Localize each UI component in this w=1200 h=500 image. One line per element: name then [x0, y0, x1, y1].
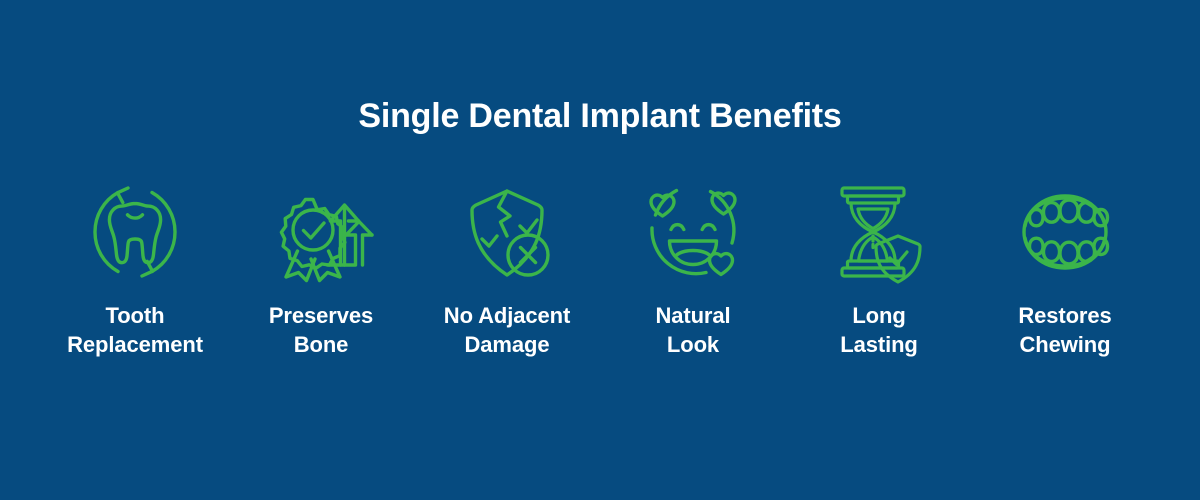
page-title: Single Dental Implant Benefits	[358, 98, 841, 135]
benefit-label: Long Lasting	[840, 301, 918, 359]
benefit-item-preserves-bone: Preserves Bone	[228, 179, 414, 359]
hourglass-shield-check-icon	[826, 179, 932, 285]
smiling-face-hearts-icon	[640, 179, 746, 285]
tooth-refresh-icon	[82, 179, 188, 285]
infographic-canvas: Single Dental Implant Benefits Tooth Rep…	[0, 0, 1200, 500]
teeth-arches-icon	[1012, 179, 1118, 285]
cracked-shield-x-icon	[454, 179, 560, 285]
benefit-label: Restores Chewing	[1018, 301, 1111, 359]
benefit-item-restores-chewing: Restores Chewing	[972, 179, 1158, 359]
benefit-label: No Adjacent Damage	[444, 301, 570, 359]
benefit-item-no-adjacent-damage: No Adjacent Damage	[414, 179, 600, 359]
benefit-item-long-lasting: Long Lasting	[786, 179, 972, 359]
benefit-label: Tooth Replacement	[67, 301, 203, 359]
benefit-label: Preserves Bone	[269, 301, 373, 359]
benefit-label: Natural Look	[655, 301, 730, 359]
benefits-row: Tooth Replacement	[0, 179, 1200, 359]
benefit-item-tooth-replacement: Tooth Replacement	[42, 179, 228, 359]
benefit-item-natural-look: Natural Look	[600, 179, 786, 359]
badge-check-growth-arrows-icon	[268, 179, 374, 285]
